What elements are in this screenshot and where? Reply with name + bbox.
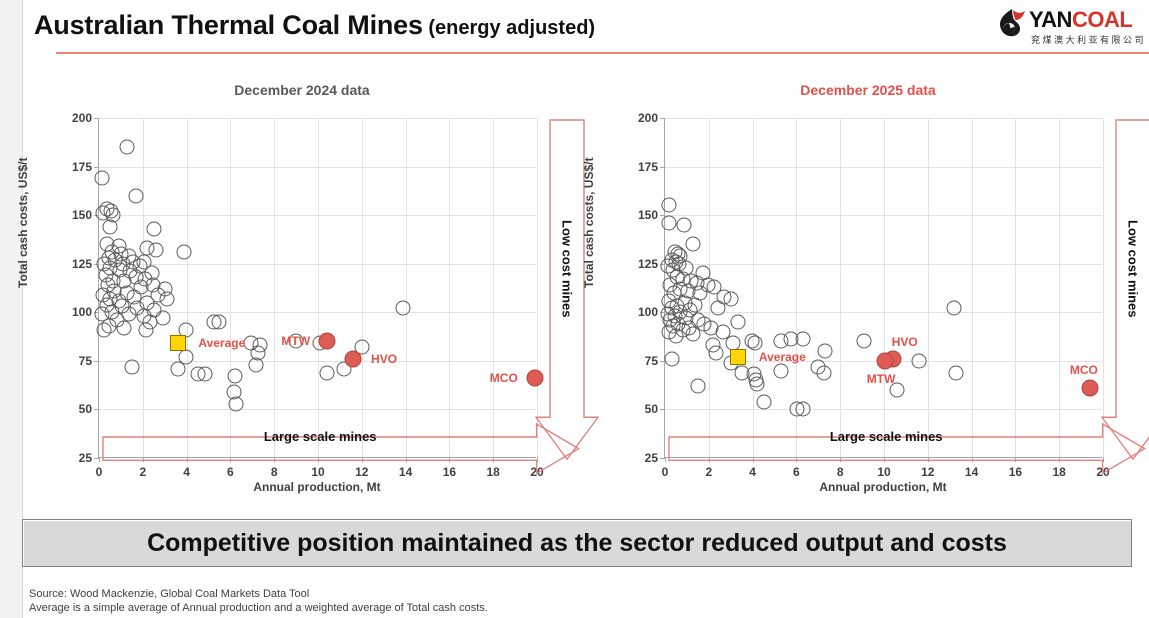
gridline-vertical [274, 118, 275, 457]
y-tick-mark [94, 167, 99, 168]
scatter-point [710, 301, 725, 316]
low-cost-mines-annotation: Low cost mines [1116, 120, 1149, 463]
scatter-point [734, 365, 749, 380]
y-tick-mark [94, 361, 99, 362]
highlight-label-mtw: MTW [281, 334, 310, 348]
y-tick-label: 150 [72, 208, 92, 222]
y-tick-label: 100 [638, 305, 658, 319]
plot-area-dec2024: 25507510012515017520002468101214161820La… [98, 118, 536, 458]
y-tick-mark [660, 118, 665, 119]
highlight-marker-mco [526, 370, 543, 387]
page-title: Australian Thermal Coal Mines (energy ad… [34, 10, 595, 41]
y-tick-label: 175 [638, 160, 658, 174]
scatter-point [949, 365, 964, 380]
y-tick-label: 75 [645, 354, 658, 368]
page-title-sub: (energy adjusted) [423, 17, 595, 39]
logo-coal-text: COAL [1072, 7, 1132, 32]
scatter-point [749, 377, 764, 392]
gridline-vertical [187, 118, 188, 457]
scatter-point [709, 346, 724, 361]
chart-panel-dec2025: December 2025 data Total cash costs, US$… [588, 78, 1148, 508]
highlight-marker-mco [1081, 380, 1098, 397]
flame-icon [997, 8, 1027, 38]
gridline-vertical [493, 118, 494, 457]
summary-banner: Competitive position maintained as the s… [22, 519, 1132, 567]
highlight-marker-mtw [877, 352, 894, 369]
large-scale-mines-label: Large scale mines [103, 425, 537, 448]
y-tick-label: 100 [72, 305, 92, 319]
plot-area-dec2025: 25507510012515017520002468101214161820La… [664, 118, 1102, 458]
gridline-vertical [972, 118, 973, 457]
scatter-point [146, 221, 161, 236]
scatter-point [319, 365, 334, 380]
highlight-marker-hvo [345, 350, 362, 367]
scatter-point [723, 291, 738, 306]
highlight-label-hvo: HVO [371, 352, 397, 366]
y-tick-label: 25 [79, 451, 92, 465]
scatter-point [129, 188, 144, 203]
scatter-point [228, 396, 243, 411]
highlight-label-mco: MCO [490, 371, 518, 385]
y-axis-title-left: Total cash costs, US$/t [16, 158, 30, 288]
scatter-point [662, 198, 677, 213]
y-tick-label: 25 [645, 451, 658, 465]
gridline-vertical [449, 118, 450, 457]
scatter-point [664, 351, 679, 366]
average-label: Average [759, 350, 806, 364]
highlight-marker-mtw [318, 333, 335, 350]
scatter-point [97, 322, 112, 337]
average-label: Average [198, 336, 245, 350]
large-scale-mines-annotation: Large scale mines [103, 425, 581, 448]
scatter-point [774, 363, 789, 378]
scatter-point [817, 344, 832, 359]
x-axis-title-left: Annual production, Mt [98, 480, 536, 494]
yancoal-logo: YANCOAL 兖煤澳大利亚有限公司 [997, 6, 1137, 52]
low-cost-mines-label: Low cost mines [550, 120, 584, 417]
scatter-point [117, 320, 132, 335]
scatter-point [912, 353, 927, 368]
scatter-point [148, 243, 163, 258]
scatter-point [170, 361, 185, 376]
scatter-point [731, 315, 746, 330]
gridline-vertical [318, 118, 319, 457]
logo-yan-text: YAN [1029, 7, 1072, 32]
chart-title-dec2024: December 2024 data [22, 82, 582, 98]
scatter-point [124, 359, 139, 374]
gridline-vertical [406, 118, 407, 457]
scatter-point [756, 394, 771, 409]
scatter-point [686, 237, 701, 252]
gridline-vertical [1059, 118, 1060, 457]
gridline-vertical [840, 118, 841, 457]
highlight-label-mtw: MTW [867, 372, 896, 386]
footnote-average: Average is a simple average of Annual pr… [29, 601, 1029, 615]
y-tick-mark [94, 118, 99, 119]
scatter-point [795, 402, 810, 417]
scatter-point [396, 301, 411, 316]
y-axis-title-right: Total cash costs, US$/t [582, 158, 596, 288]
scatter-point [198, 367, 213, 382]
scatter-point [857, 334, 872, 349]
logo-wordmark: YANCOAL [1029, 8, 1132, 32]
summary-banner-text: Competitive position maintained as the s… [147, 529, 1007, 558]
y-tick-label: 200 [638, 111, 658, 125]
scatter-point [139, 322, 154, 337]
scatter-point [795, 332, 810, 347]
x-axis-title-right: Annual production, Mt [664, 480, 1102, 494]
title-underline-rule [56, 52, 1149, 54]
scatter-point [120, 140, 135, 155]
gridline-vertical [537, 118, 538, 457]
scatter-point [102, 219, 117, 234]
scatter-point [159, 291, 174, 306]
gridline-vertical [753, 118, 754, 457]
y-tick-label: 125 [638, 257, 658, 271]
y-tick-mark [660, 167, 665, 168]
highlight-label-hvo: HVO [892, 335, 918, 349]
low-cost-mines-label: Low cost mines [1116, 120, 1149, 417]
large-scale-mines-label: Large scale mines [669, 425, 1103, 448]
chart-panel-dec2024: December 2024 data Total cash costs, US$… [22, 78, 582, 508]
average-marker [730, 349, 746, 365]
gridline-vertical [1015, 118, 1016, 457]
scatter-point [662, 215, 677, 230]
y-tick-label: 125 [72, 257, 92, 271]
x-tick-label: 0 [662, 465, 669, 479]
scatter-point [947, 301, 962, 316]
scatter-point [177, 245, 192, 260]
scatter-point [747, 336, 762, 351]
gridline-vertical [1103, 118, 1104, 457]
gridline-vertical [928, 118, 929, 457]
scatter-point [686, 326, 701, 341]
x-tick-mark [99, 457, 100, 462]
average-marker [170, 335, 186, 351]
y-tick-label: 200 [72, 111, 92, 125]
page-title-main: Australian Thermal Coal Mines [34, 10, 423, 40]
page-header: Australian Thermal Coal Mines (energy ad… [22, 0, 1149, 62]
y-tick-label: 50 [645, 402, 658, 416]
y-tick-label: 75 [79, 354, 92, 368]
scatter-point [816, 365, 831, 380]
scatter-point [95, 171, 110, 186]
x-tick-label: 0 [96, 465, 103, 479]
left-edge-rail [0, 0, 23, 618]
gridline-vertical [362, 118, 363, 457]
scatter-point [690, 379, 705, 394]
chart-title-dec2025: December 2025 data [588, 82, 1148, 98]
footnotes: Source: Wood Mackenzie, Global Coal Mark… [29, 587, 1029, 615]
y-tick-label: 175 [72, 160, 92, 174]
y-tick-label: 150 [638, 208, 658, 222]
scatter-point [248, 357, 263, 372]
gridline-vertical [884, 118, 885, 457]
scatter-point [668, 328, 683, 343]
y-tick-mark [660, 409, 665, 410]
large-scale-mines-annotation: Large scale mines [669, 425, 1147, 448]
scatter-point [676, 217, 691, 232]
scatter-point [227, 369, 242, 384]
x-tick-mark [665, 457, 666, 462]
y-tick-label: 50 [79, 402, 92, 416]
footnote-source: Source: Wood Mackenzie, Global Coal Mark… [29, 587, 1029, 601]
y-tick-mark [94, 409, 99, 410]
logo-chinese-text: 兖煤澳大利亚有限公司 [1031, 33, 1146, 46]
highlight-label-mco: MCO [1070, 363, 1098, 377]
scatter-point [212, 315, 227, 330]
